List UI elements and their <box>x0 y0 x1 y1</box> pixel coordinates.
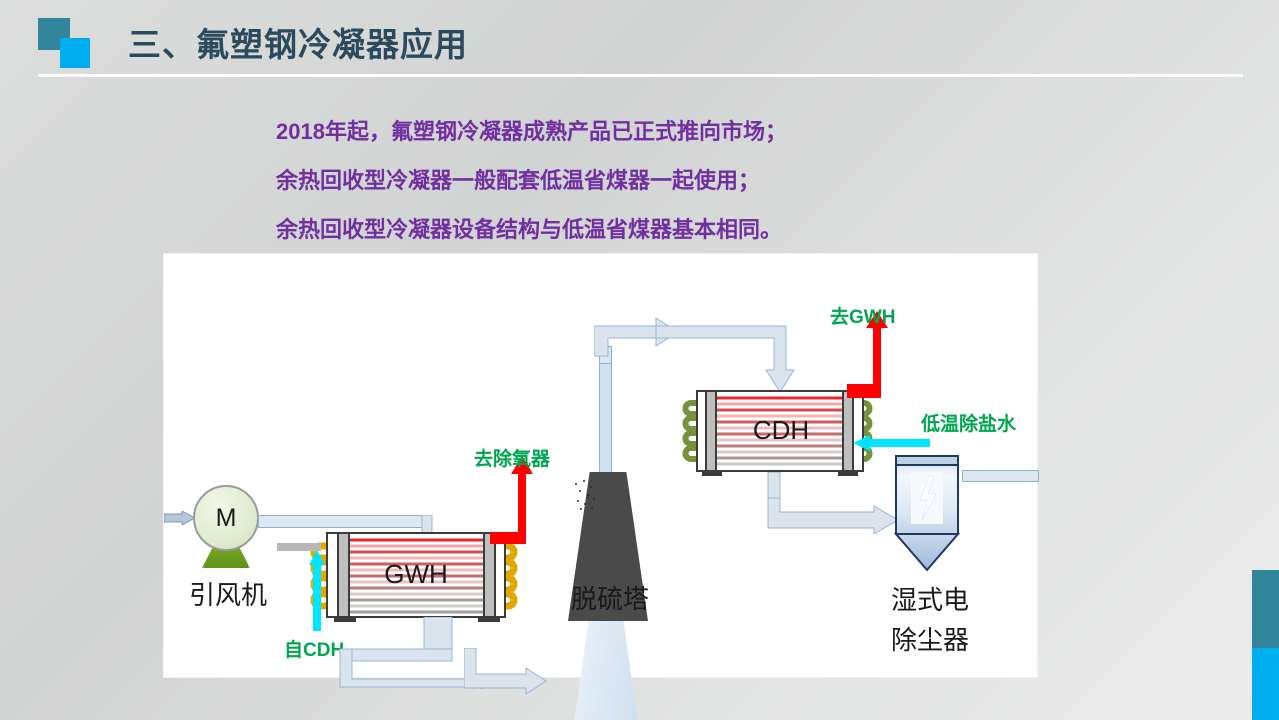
accent-bar-top <box>1252 570 1279 648</box>
label-to-gwh: 去GWH <box>830 302 895 329</box>
body-line-1: 2018年起，氟塑钢冷凝器成熟产品已正式推向市场； <box>276 107 1036 156</box>
header-divider <box>38 74 1243 77</box>
decor-square-light <box>60 38 90 68</box>
flow-cdh-to-esp <box>754 472 916 539</box>
label-to-deaerator: 去除氧器 <box>474 444 550 471</box>
fan-label: 引风机 <box>178 575 278 612</box>
duct-fan-to-gwh-horizontal <box>258 515 426 528</box>
duct-esp-outlet <box>962 470 1039 482</box>
cdh-label: CDH <box>734 410 828 450</box>
body-text-block: 2018年起，氟塑钢冷凝器成熟产品已正式推向市场； 余热回收型冷凝器一般配套低温… <box>276 107 1036 254</box>
gwh-label: GWH <box>366 554 466 594</box>
body-line-3: 余热回收型冷凝器设备结构与低温省煤器基本相同。 <box>276 205 1036 254</box>
wet-esp-label-line1: 湿式电 <box>870 580 990 617</box>
tower-body <box>568 621 644 720</box>
body-line-2: 余热回收型冷凝器一般配套低温省煤器一起使用； <box>276 156 1036 205</box>
page-title: 三、氟塑钢冷凝器应用 <box>128 18 468 66</box>
accent-bar-bottom <box>1252 648 1279 720</box>
wet-esp <box>894 454 964 577</box>
fan-inlet-arrow <box>164 511 196 525</box>
right-accent-bar <box>1252 570 1279 720</box>
wet-esp-label-line2: 除尘器 <box>870 620 990 657</box>
tower-label: 脱硫塔 <box>571 579 649 616</box>
label-low-temp-demin-water: 低温除盐水 <box>921 409 1016 436</box>
flow-arrow-into-tower <box>464 648 574 701</box>
process-flow-diagram: M 引风机 <box>164 254 1037 677</box>
fan-motor-label: M <box>193 485 259 551</box>
